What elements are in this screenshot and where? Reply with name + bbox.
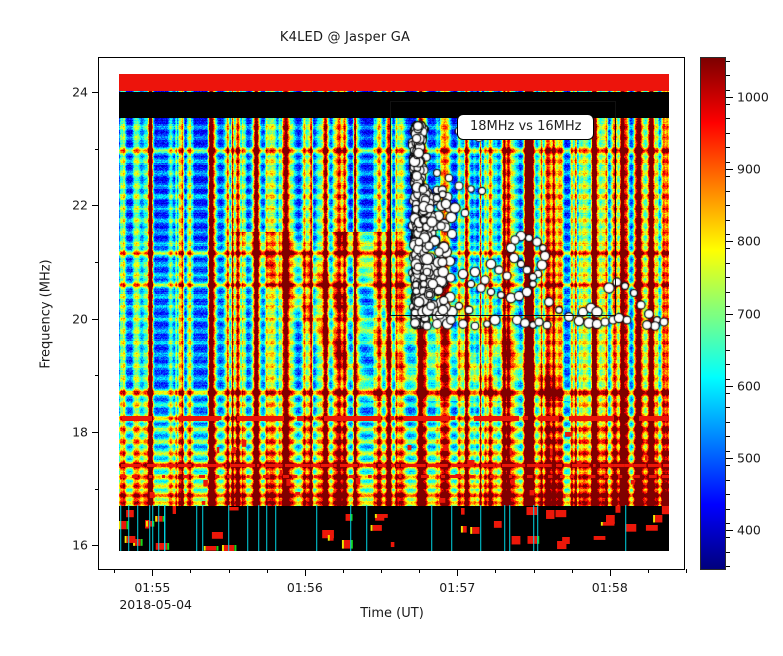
colorbar-tick-minor (726, 552, 730, 553)
x-tick-major (610, 569, 611, 576)
colorbar-tick-label: 500 (737, 451, 761, 466)
colorbar-tick-minor (726, 277, 730, 278)
x-tick-minor (419, 569, 420, 573)
colorbar-tick-major (726, 97, 733, 98)
colorbar-tick-label: 1000 (737, 89, 769, 104)
colorbar-tick-major (726, 386, 733, 387)
y-tick-major (92, 432, 99, 433)
colorbar-tick-minor (726, 306, 730, 307)
x-tick-minor (648, 569, 649, 573)
colorbar-tick-minor (726, 436, 730, 437)
y-tick-label: 22 (72, 198, 88, 213)
colorbar-tick-major (726, 458, 733, 459)
x-tick-minor (229, 569, 230, 573)
y-tick-minor (95, 489, 99, 490)
y-tick-major (92, 92, 99, 93)
x-tick-major (457, 569, 458, 576)
x-tick-minor (534, 569, 535, 573)
y-tick-minor (95, 262, 99, 263)
y-tick-minor (95, 149, 99, 150)
colorbar-ticks: 4005006007008009001000 (700, 57, 726, 570)
colorbar-tick-minor (726, 147, 730, 148)
x-tick-minor (572, 569, 573, 573)
x-axis-date-label: 2018-05-04 (119, 597, 192, 612)
colorbar-tick-minor (726, 292, 730, 293)
colorbar-tick-minor (726, 523, 730, 524)
colorbar-tick-minor (726, 234, 730, 235)
colorbar-tick-minor (726, 451, 730, 452)
colorbar-tick-major (726, 169, 733, 170)
colorbar-tick-minor (726, 220, 730, 221)
colorbar-tick-minor (726, 407, 730, 408)
x-tick-label: 01:55 (134, 580, 170, 595)
colorbar-tick-minor (726, 537, 730, 538)
y-tick-label: 18 (72, 425, 88, 440)
x-tick-label: 01:57 (439, 580, 475, 595)
colorbar-tick-minor (726, 90, 730, 91)
plot-axes: 18MHz vs 16MHz 1618202224 01:552018-05-0… (98, 57, 685, 570)
colorbar-tick-minor (726, 509, 730, 510)
colorbar-tick-minor (726, 393, 730, 394)
colorbar-tick-major (726, 314, 733, 315)
colorbar-tick-minor (726, 191, 730, 192)
y-tick-label: 24 (72, 85, 88, 100)
x-tick-minor (267, 569, 268, 573)
colorbar-tick-minor (726, 176, 730, 177)
x-tick-major (305, 569, 306, 576)
colorbar-tick-major (726, 241, 733, 242)
annotation-label: 18MHz vs 16MHz (457, 114, 594, 140)
colorbar-tick-minor (726, 335, 730, 336)
x-tick-label: 01:58 (592, 580, 628, 595)
colorbar-tick-minor (726, 118, 730, 119)
x-tick-minor (495, 569, 496, 573)
colorbar-tick-label: 700 (737, 306, 761, 321)
colorbar-tick-minor (726, 263, 730, 264)
x-tick-minor (114, 569, 115, 573)
y-tick-major (92, 205, 99, 206)
x-tick-label: 01:56 (287, 580, 323, 595)
y-tick-label: 16 (72, 538, 88, 553)
x-tick-minor (343, 569, 344, 573)
colorbar-tick-label: 900 (737, 161, 761, 176)
colorbar-tick-minor (726, 465, 730, 466)
colorbar-tick-minor (726, 205, 730, 206)
colorbar-tick-label: 800 (737, 234, 761, 249)
colorbar-tick-minor (726, 133, 730, 134)
y-tick-major (92, 319, 99, 320)
colorbar-tick-minor (726, 321, 730, 322)
colorbar-tick-minor (726, 162, 730, 163)
x-tick-minor (190, 569, 191, 573)
colorbar-tick-label: 400 (737, 523, 761, 538)
colorbar-tick-minor (726, 480, 730, 481)
y-tick-major (92, 545, 99, 546)
x-tick-minor (381, 569, 382, 573)
colorbar-tick-label: 600 (737, 378, 761, 393)
colorbar-tick-minor (726, 248, 730, 249)
y-tick-minor (95, 375, 99, 376)
colorbar-tick-minor (726, 364, 730, 365)
colorbar-tick-minor (726, 566, 730, 567)
colorbar-tick-minor (726, 422, 730, 423)
colorbar-tick-minor (726, 494, 730, 495)
colorbar-tick-minor (726, 104, 730, 105)
figure-canvas: K4LED @ Jasper GA 18MHz vs 16MHz 1618202… (0, 0, 783, 656)
colorbar-tick-major (726, 530, 733, 531)
colorbar-tick-minor (726, 61, 730, 62)
page-title: K4LED @ Jasper GA (0, 30, 690, 45)
x-tick-major (152, 569, 153, 576)
colorbar-tick-minor (726, 379, 730, 380)
colorbar-tick-minor (726, 350, 730, 351)
colorbar-tick-minor (726, 75, 730, 76)
y-tick-label: 20 (72, 311, 88, 326)
y-axis-title: Frequency (MHz) (39, 259, 54, 368)
x-tick-minor (686, 569, 687, 573)
x-axis-title: Time (UT) (360, 606, 424, 621)
